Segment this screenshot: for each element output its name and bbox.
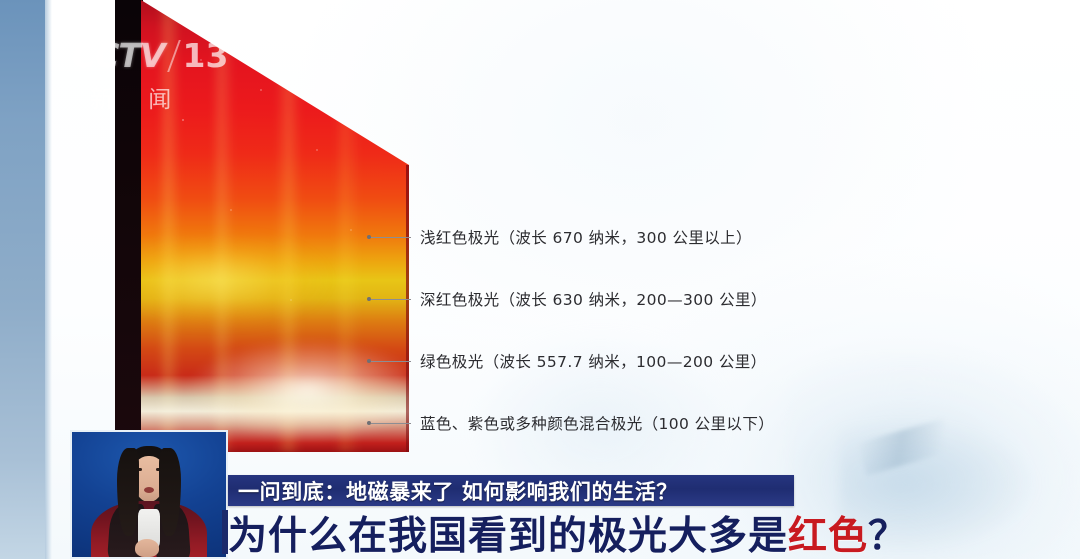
aurora-image-panel	[115, 0, 405, 466]
callout-green-aurora: 绿色极光（波长 557.7 纳米，100—200 公里）	[367, 350, 767, 372]
headline-text-part2: ？	[868, 505, 908, 559]
headline-text-part1: 为什么在我国看到的极光大多是	[228, 505, 788, 559]
news-anchor-inset	[70, 430, 228, 559]
callout-leader-line	[371, 423, 411, 424]
headline: 为什么在我国看到的极光大多是 红色 ？	[228, 508, 1058, 558]
callout-leader-line	[371, 361, 411, 362]
background-left-blue-band	[0, 0, 45, 559]
headline-text-highlight: 红色	[788, 505, 868, 559]
program-banner-text: 一问到底：地磁暴来了 如何影响我们的生活？	[238, 476, 678, 506]
anchor-hair-strand-left	[117, 448, 139, 536]
callout-label: 深红色极光（波长 630 纳米，200—300 公里）	[420, 288, 767, 310]
callout-light-red-aurora: 浅红色极光（波长 670 纳米，300 公里以上）	[367, 226, 752, 248]
callout-label: 浅红色极光（波长 670 纳米，300 公里以上）	[420, 226, 752, 248]
callout-leader-line	[371, 299, 411, 300]
aurora-dark-left-edge	[115, 0, 143, 452]
program-banner: 一问到底：地磁暴来了 如何影响我们的生活？	[228, 475, 794, 506]
callout-deep-red-aurora: 深红色极光（波长 630 纳米，200—300 公里）	[367, 288, 767, 310]
callout-label: 蓝色、紫色或多种颜色混合极光（100 公里以下）	[420, 412, 774, 434]
broadcast-frame: CCTV 13 新 闻 浅红色极光（波长 670 纳米，300 公里以上） 深红…	[0, 0, 1080, 559]
callout-blue-purple-aurora: 蓝色、紫色或多种颜色混合极光（100 公里以下）	[367, 412, 774, 434]
anchor-mouth	[144, 487, 154, 493]
callout-label: 绿色极光（波长 557.7 纳米，100—200 公里）	[420, 350, 767, 372]
callout-leader-line	[371, 237, 411, 238]
headline-accent-bar	[222, 510, 228, 554]
anchor-hand	[135, 539, 159, 557]
